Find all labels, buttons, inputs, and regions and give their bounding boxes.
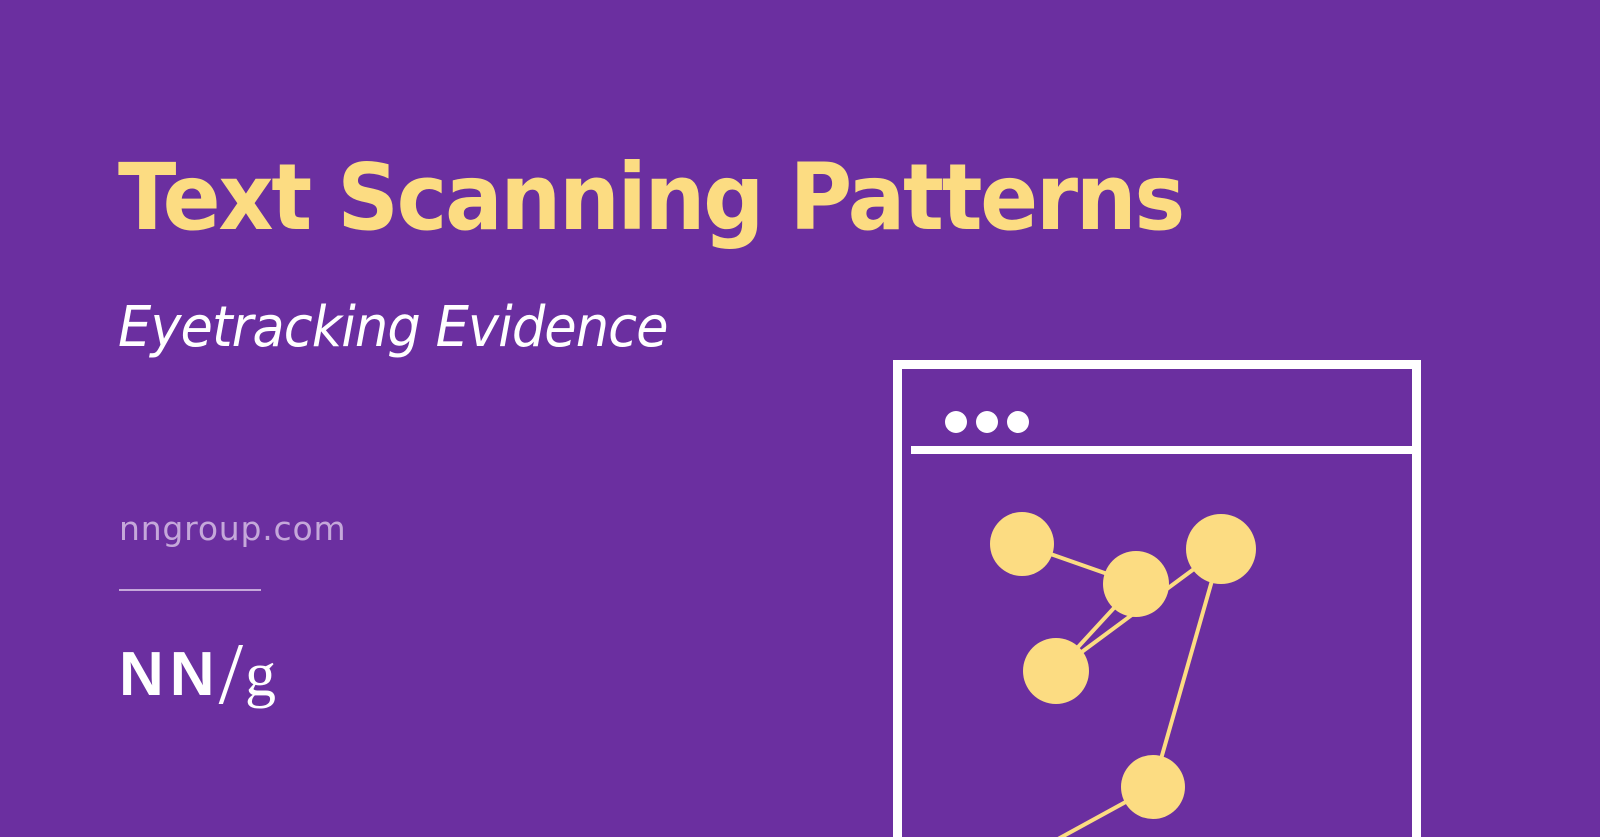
gaze-plot xyxy=(911,462,1421,837)
site-url: nngroup.com xyxy=(119,512,419,545)
brand-divider xyxy=(119,589,261,591)
gaze-fixation-dot xyxy=(1121,755,1185,819)
logo-g-text: g xyxy=(245,644,276,706)
page-subtitle: Eyetracking Evidence xyxy=(118,244,832,356)
browser-frame xyxy=(893,360,1421,837)
gaze-fixation-dot xyxy=(1023,638,1089,704)
hero-text-block: Text Scanning Patterns Eyetracking Evide… xyxy=(118,152,878,356)
gaze-fixation-dot xyxy=(1186,514,1256,584)
logo-nn-text: NN xyxy=(119,644,221,706)
gaze-fixation-dot xyxy=(1103,551,1169,617)
brand-block: nngroup.com NN / g xyxy=(119,512,419,693)
window-dot-1-icon xyxy=(945,411,967,433)
gaze-fixation-dot xyxy=(990,512,1054,576)
nng-logo: NN / g xyxy=(119,623,419,693)
window-dot-3-icon xyxy=(1007,411,1029,433)
page-title: Text Scanning Patterns xyxy=(118,152,825,244)
logo-slash-text: / xyxy=(219,631,243,719)
window-dot-2-icon xyxy=(976,411,998,433)
gaze-dot-group xyxy=(990,512,1256,819)
window-control-dots xyxy=(945,411,1029,433)
browser-window-illustration xyxy=(893,360,1600,837)
gaze-plot-svg xyxy=(911,462,1421,837)
browser-titlebar xyxy=(911,378,1421,454)
slide-canvas: Text Scanning Patterns Eyetracking Evide… xyxy=(0,0,1600,837)
